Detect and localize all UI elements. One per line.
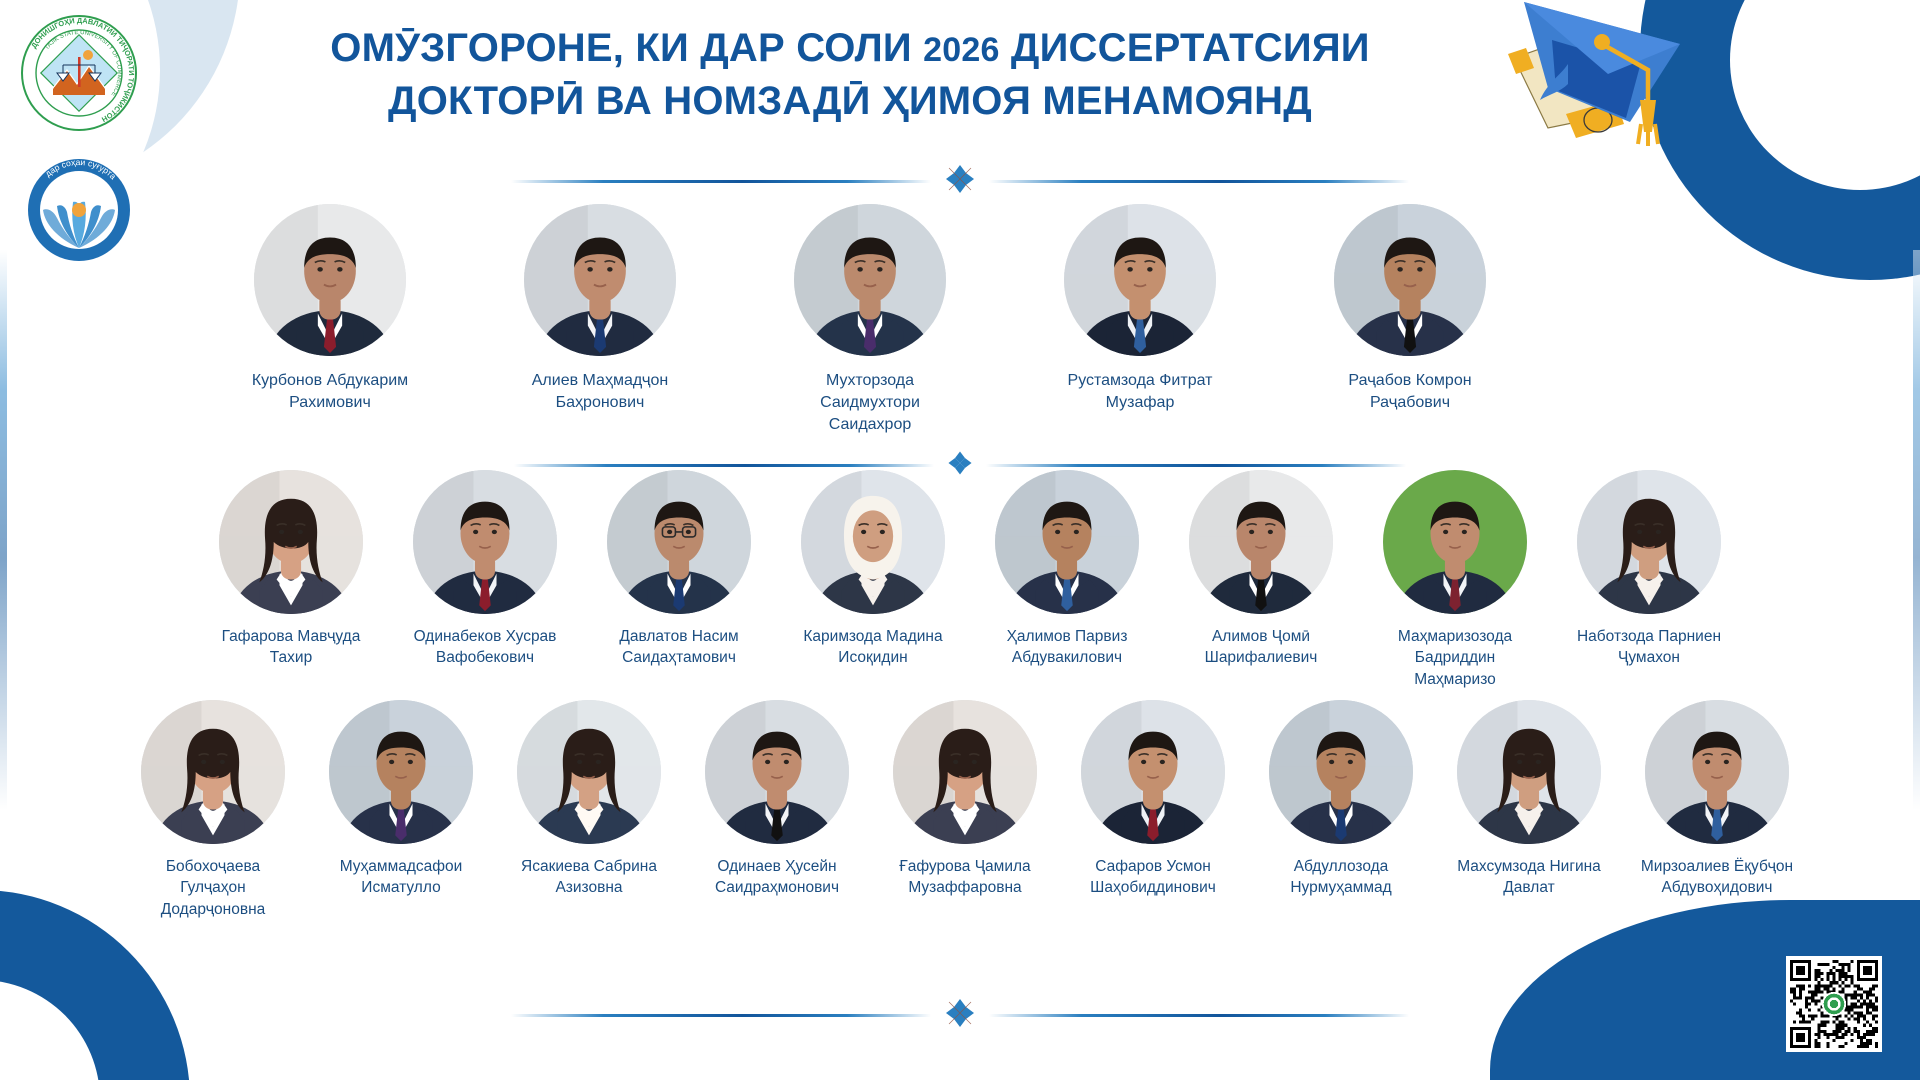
- person-card: Алиев Маҳмадҷон Баҳронович: [505, 204, 695, 414]
- person-card: Алимов Ҷомӣ Шарифалиевич: [1176, 470, 1346, 669]
- person-card: Наботзода Парниен Ҷумахон: [1564, 470, 1734, 669]
- left-edge-gradient-bar: [0, 250, 7, 810]
- divider-bottom: [0, 1002, 1920, 1028]
- title-line-1: ОМӮЗГОРОНЕ, КИ ДАР СОЛИ 2026 ДИССЕРТАТСИ…: [210, 22, 1490, 75]
- portrait-photo: [517, 700, 661, 844]
- person-name: Гафарова Мавҷуда Тахир: [222, 626, 361, 669]
- portrait-photo: [1081, 700, 1225, 844]
- divider-bar-left: [511, 180, 931, 183]
- person-name: Маҳмаризозода Бадриддин Маҳмаризо: [1398, 626, 1512, 690]
- portrait-photo: [254, 204, 406, 356]
- person-card: Махсумзода Нигина Давлат: [1444, 700, 1614, 899]
- portrait-photo: [607, 470, 751, 614]
- quatrefoil-ornament-icon: [943, 162, 977, 201]
- poster-canvas: ДОНИШГОҲИ ДАВЛАТИИ ТИҶОРАТИ ТОҶИКИСТОН T…: [0, 0, 1920, 1080]
- person-card: Раҷабов Комрон Раҷабович: [1315, 204, 1505, 414]
- person-card: Мухторзода Саидмухтори Саидахрор: [775, 204, 965, 436]
- person-name: Наботзода Парниен Ҷумахон: [1577, 626, 1721, 669]
- quatrefoil-ornament-icon: [943, 996, 977, 1035]
- person-name: Раҷабов Комрон Раҷабович: [1348, 370, 1471, 414]
- person-name: Алимов Ҷомӣ Шарифалиевич: [1205, 626, 1318, 669]
- person-name: Бобохоҷаева Гулҷаҳон Додарҷоновна: [161, 856, 266, 920]
- divider-bar-left: [514, 464, 934, 467]
- portrait-photo: [1189, 470, 1333, 614]
- portrait-photo: [995, 470, 1139, 614]
- person-card: Рустамзода Фитрат Музафар: [1045, 204, 1235, 414]
- person-name: Муҳаммадсафои Исматулло: [340, 856, 463, 899]
- person-card: Ҳалимов Парвиз Абдувакилович: [982, 470, 1152, 669]
- person-name: Сафаров Усмон Шаҳобиддинович: [1090, 856, 1216, 899]
- qr-code[interactable]: [1786, 956, 1882, 1052]
- portrait-photo: [1457, 700, 1601, 844]
- portrait-photo: [1577, 470, 1721, 614]
- divider-bar-right: [986, 464, 1406, 467]
- portrait-photo: [801, 470, 945, 614]
- portrait-photo: [413, 470, 557, 614]
- person-name: Ҳалимов Парвиз Абдувакилович: [1007, 626, 1128, 669]
- portrait-row-2: Гафарова Мавҷуда Тахир Одинабеков Хусрав…: [60, 470, 1880, 690]
- portrait-photo: [794, 204, 946, 356]
- portrait-row-1: Курбонов Абдукарим Рахимович Алиев Маҳма…: [180, 204, 1560, 436]
- person-name: Ясакиева Сабрина Азизовна: [521, 856, 657, 899]
- person-card: Сафаров Усмон Шаҳобиддинович: [1068, 700, 1238, 899]
- person-card: Гафарова Мавҷуда Тахир: [206, 470, 376, 669]
- portrait-photo: [705, 700, 849, 844]
- divider-bar-right: [989, 180, 1409, 183]
- person-card: Мирзоалиев Ёқубҷон Абдувоҳидович: [1632, 700, 1802, 899]
- portrait-photo: [141, 700, 285, 844]
- university-logo: ДОНИШГОҲИ ДАВЛАТИИ ТИҶОРАТИ ТОҶИКИСТОН T…: [20, 14, 138, 132]
- person-name: Мухторзода Саидмухтори Саидахрор: [775, 370, 965, 436]
- title-year: 2026: [923, 31, 999, 69]
- title-line-2: ДОКТОРӢ ВА НОМЗАДӢ ҲИМОЯ МЕНАМОЯНД: [210, 75, 1490, 128]
- portrait-photo: [1383, 470, 1527, 614]
- person-card: Одинабеков Хусрав Вафобекович: [400, 470, 570, 669]
- graduation-cap-icon: [1490, 0, 1790, 161]
- person-name: Абдуллозода Нурмуҳаммад: [1290, 856, 1391, 899]
- person-name: Одинаев Ҳусейн Саидраҳмонович: [715, 856, 839, 899]
- person-name: Мирзоалиев Ёқубҷон Абдувоҳидович: [1641, 856, 1793, 899]
- portrait-row-3: Бобохоҷаева Гулҷаҳон Додарҷоновна Муҳамм…: [40, 700, 1890, 920]
- divider-bar-left: [511, 1014, 931, 1017]
- person-card: Ғафурова Ҷамила Музаффаровна: [880, 700, 1050, 899]
- person-name: Каримзода Мадина Исоқидин: [803, 626, 942, 669]
- portrait-photo: [1334, 204, 1486, 356]
- portrait-photo: [1645, 700, 1789, 844]
- portrait-photo: [893, 700, 1037, 844]
- person-card: Каримзода Мадина Исоқидин: [788, 470, 958, 669]
- portrait-photo: [219, 470, 363, 614]
- divider-top: [0, 168, 1920, 194]
- person-card: Ясакиева Сабрина Азизовна: [504, 700, 674, 899]
- divider-bar-right: [989, 1014, 1409, 1017]
- person-card: Одинаев Ҳусейн Саидраҳмонович: [692, 700, 862, 899]
- portrait-photo: [1064, 204, 1216, 356]
- person-name: Махсумзода Нигина Давлат: [1457, 856, 1601, 899]
- person-card: Абдуллозода Нурмуҳаммад: [1256, 700, 1426, 899]
- person-name: Алиев Маҳмадҷон Баҳронович: [532, 370, 669, 414]
- portrait-photo: [1269, 700, 1413, 844]
- person-name: Курбонов Абдукарим Рахимович: [252, 370, 408, 414]
- portrait-photo: [329, 700, 473, 844]
- portrait-photo: [524, 204, 676, 356]
- person-name: Одинабеков Хусрав Вафобекович: [414, 626, 557, 669]
- person-name: Давлатов Насим Саидаҳтамович: [619, 626, 738, 669]
- person-card: Бобохоҷаева Гулҷаҳон Додарҷоновна: [128, 700, 298, 920]
- person-card: Маҳмаризозода Бадриддин Маҳмаризо: [1370, 470, 1540, 690]
- right-edge-gradient-bar: [1913, 250, 1920, 810]
- person-name: Рустамзода Фитрат Музафар: [1068, 370, 1213, 414]
- person-card: Курбонов Абдукарим Рахимович: [235, 204, 425, 414]
- person-card: Муҳаммадсафои Исматулло: [316, 700, 486, 899]
- page-title: ОМӮЗГОРОНЕ, КИ ДАР СОЛИ 2026 ДИССЕРТАТСИ…: [210, 22, 1490, 128]
- person-name: Ғафурова Ҷамила Музаффаровна: [899, 856, 1030, 899]
- person-card: Давлатов Насим Саидаҳтамович: [594, 470, 764, 669]
